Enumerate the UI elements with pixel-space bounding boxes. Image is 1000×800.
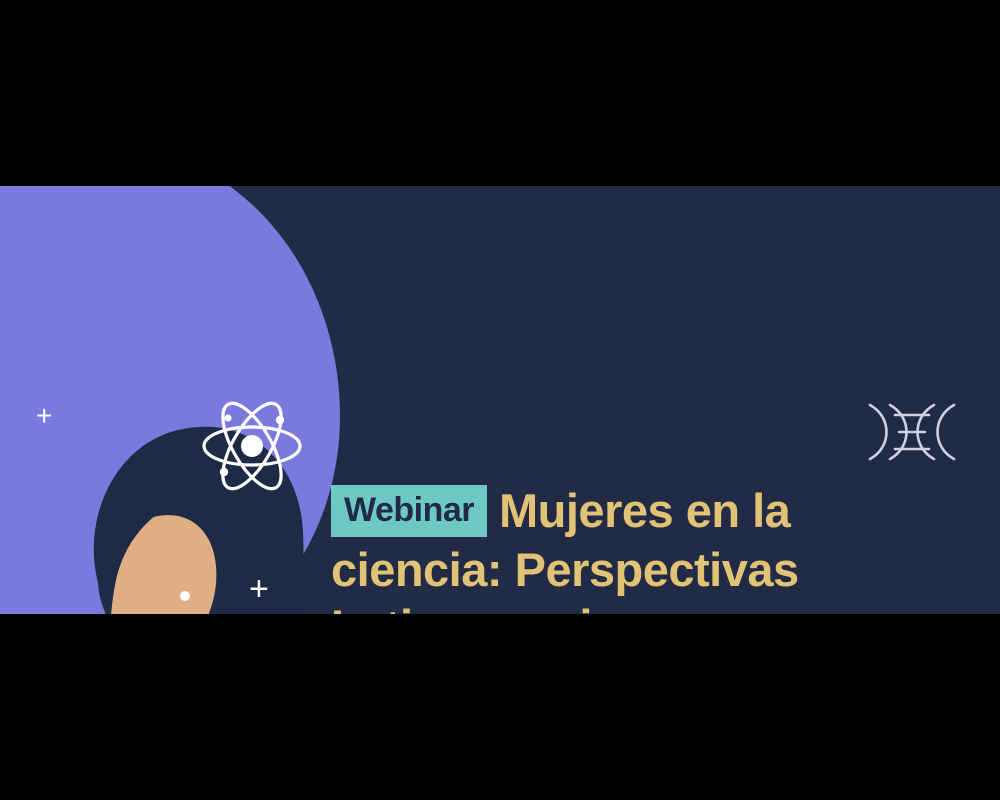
webinar-badge: Webinar bbox=[331, 485, 487, 537]
screenshot-canvas: + + + bbox=[0, 0, 1000, 800]
headline-text-1: Mujeres en la bbox=[499, 484, 790, 537]
plus-icon: + bbox=[249, 572, 269, 606]
atom-icon bbox=[198, 392, 306, 500]
headline-line-3: Latinoamericanas bbox=[331, 598, 941, 614]
webinar-banner: + + + bbox=[0, 186, 1000, 614]
headline-line-1: WebinarMujeres en la bbox=[331, 482, 941, 541]
plus-icon: + bbox=[36, 402, 52, 430]
headline-block: WebinarMujeres en la ciencia: Perspectiv… bbox=[331, 482, 941, 614]
dna-helix-icon bbox=[862, 401, 962, 463]
headline-line-2: ciencia: Perspectivas bbox=[331, 541, 941, 598]
